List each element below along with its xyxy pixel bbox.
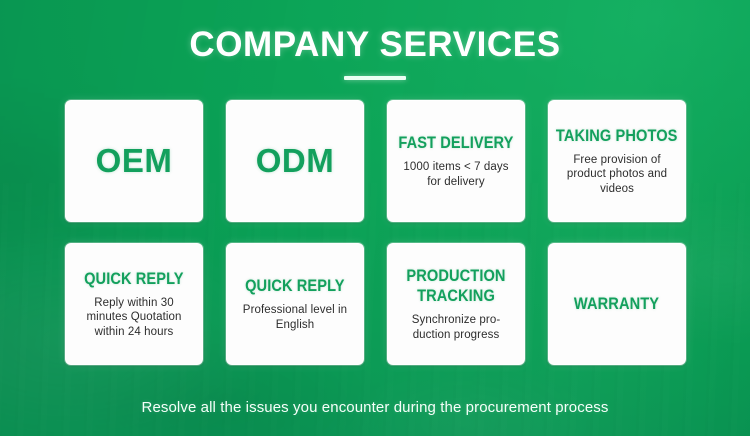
company-services-poster: COMPANY SERVICES OEM ODM FAST DELIVERY 1…: [0, 0, 750, 436]
poster-content: COMPANY SERVICES OEM ODM FAST DELIVERY 1…: [0, 0, 750, 436]
page-title: COMPANY SERVICES: [0, 24, 750, 66]
service-card-fast-delivery[interactable]: FAST DELIVERY 1000 items < 7 days for de…: [387, 100, 525, 222]
title-divider: [344, 76, 406, 80]
service-card-heading: FAST DELIVERY: [398, 133, 513, 153]
service-card-heading: WARRANTY: [574, 294, 659, 314]
service-card-heading: ODM: [256, 142, 335, 180]
service-card-quick-reply-english[interactable]: QUICK REPLY Professional level in Englis…: [226, 243, 364, 365]
service-card-taking-photos[interactable]: TAKING PHOTOS Free provision of product …: [548, 100, 686, 222]
service-card-heading: OEM: [96, 142, 173, 180]
service-card-odm[interactable]: ODM: [226, 100, 364, 222]
services-grid: OEM ODM FAST DELIVERY 1000 items < 7 day…: [65, 100, 686, 365]
service-card-body: Free provision of product photos and vid…: [557, 153, 677, 197]
service-card-heading: QUICK REPLY: [245, 276, 345, 296]
service-card-body: Reply within 30 minutes Quotation within…: [74, 296, 194, 340]
service-card-warranty[interactable]: WARRANTY: [548, 243, 686, 365]
service-card-quick-reply-response[interactable]: QUICK REPLY Reply within 30 minutes Quot…: [65, 243, 203, 365]
service-card-body: Synchronize pro-duction progress: [396, 313, 516, 342]
service-card-body: Professional level in English: [235, 303, 355, 332]
service-card-body: 1000 items < 7 days for delivery: [396, 160, 516, 189]
footer-caption: Resolve all the issues you encounter dur…: [0, 398, 750, 418]
service-card-production-tracking[interactable]: PRODUCTION TRACKING Synchronize pro-duct…: [387, 243, 525, 365]
service-card-heading: TAKING PHOTOS: [556, 126, 678, 146]
service-card-oem[interactable]: OEM: [65, 100, 203, 222]
service-card-heading: PRODUCTION TRACKING: [404, 266, 507, 306]
service-card-heading: QUICK REPLY: [84, 269, 184, 289]
